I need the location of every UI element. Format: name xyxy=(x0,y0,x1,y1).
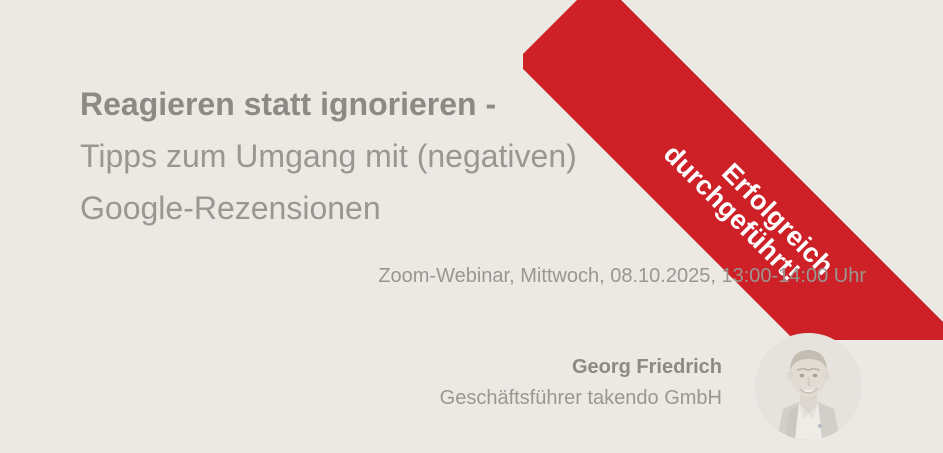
page-title: Reagieren statt ignorieren - Tipps zum U… xyxy=(80,78,720,234)
event-details: Zoom-Webinar, Mittwoch, 08.10.2025, 13:0… xyxy=(0,265,866,288)
headline-line-3: Google-Rezensionen xyxy=(80,182,720,234)
speaker-name: Georg Friedrich xyxy=(0,352,722,382)
speaker-block: Georg Friedrich Geschäftsführer takendo … xyxy=(0,352,722,414)
headline-line-1: Reagieren statt ignorieren - xyxy=(80,78,720,130)
speaker-role: Geschäftsführer takendo GmbH xyxy=(0,382,722,414)
headline-line-2: Tipps zum Umgang mit (negativen) xyxy=(80,130,720,182)
status-ribbon-line-1: Erfolgreich xyxy=(716,159,838,281)
avatar xyxy=(755,333,862,440)
webinar-banner: Erfolgreich durchgeführt! Reagieren stat… xyxy=(0,0,943,453)
